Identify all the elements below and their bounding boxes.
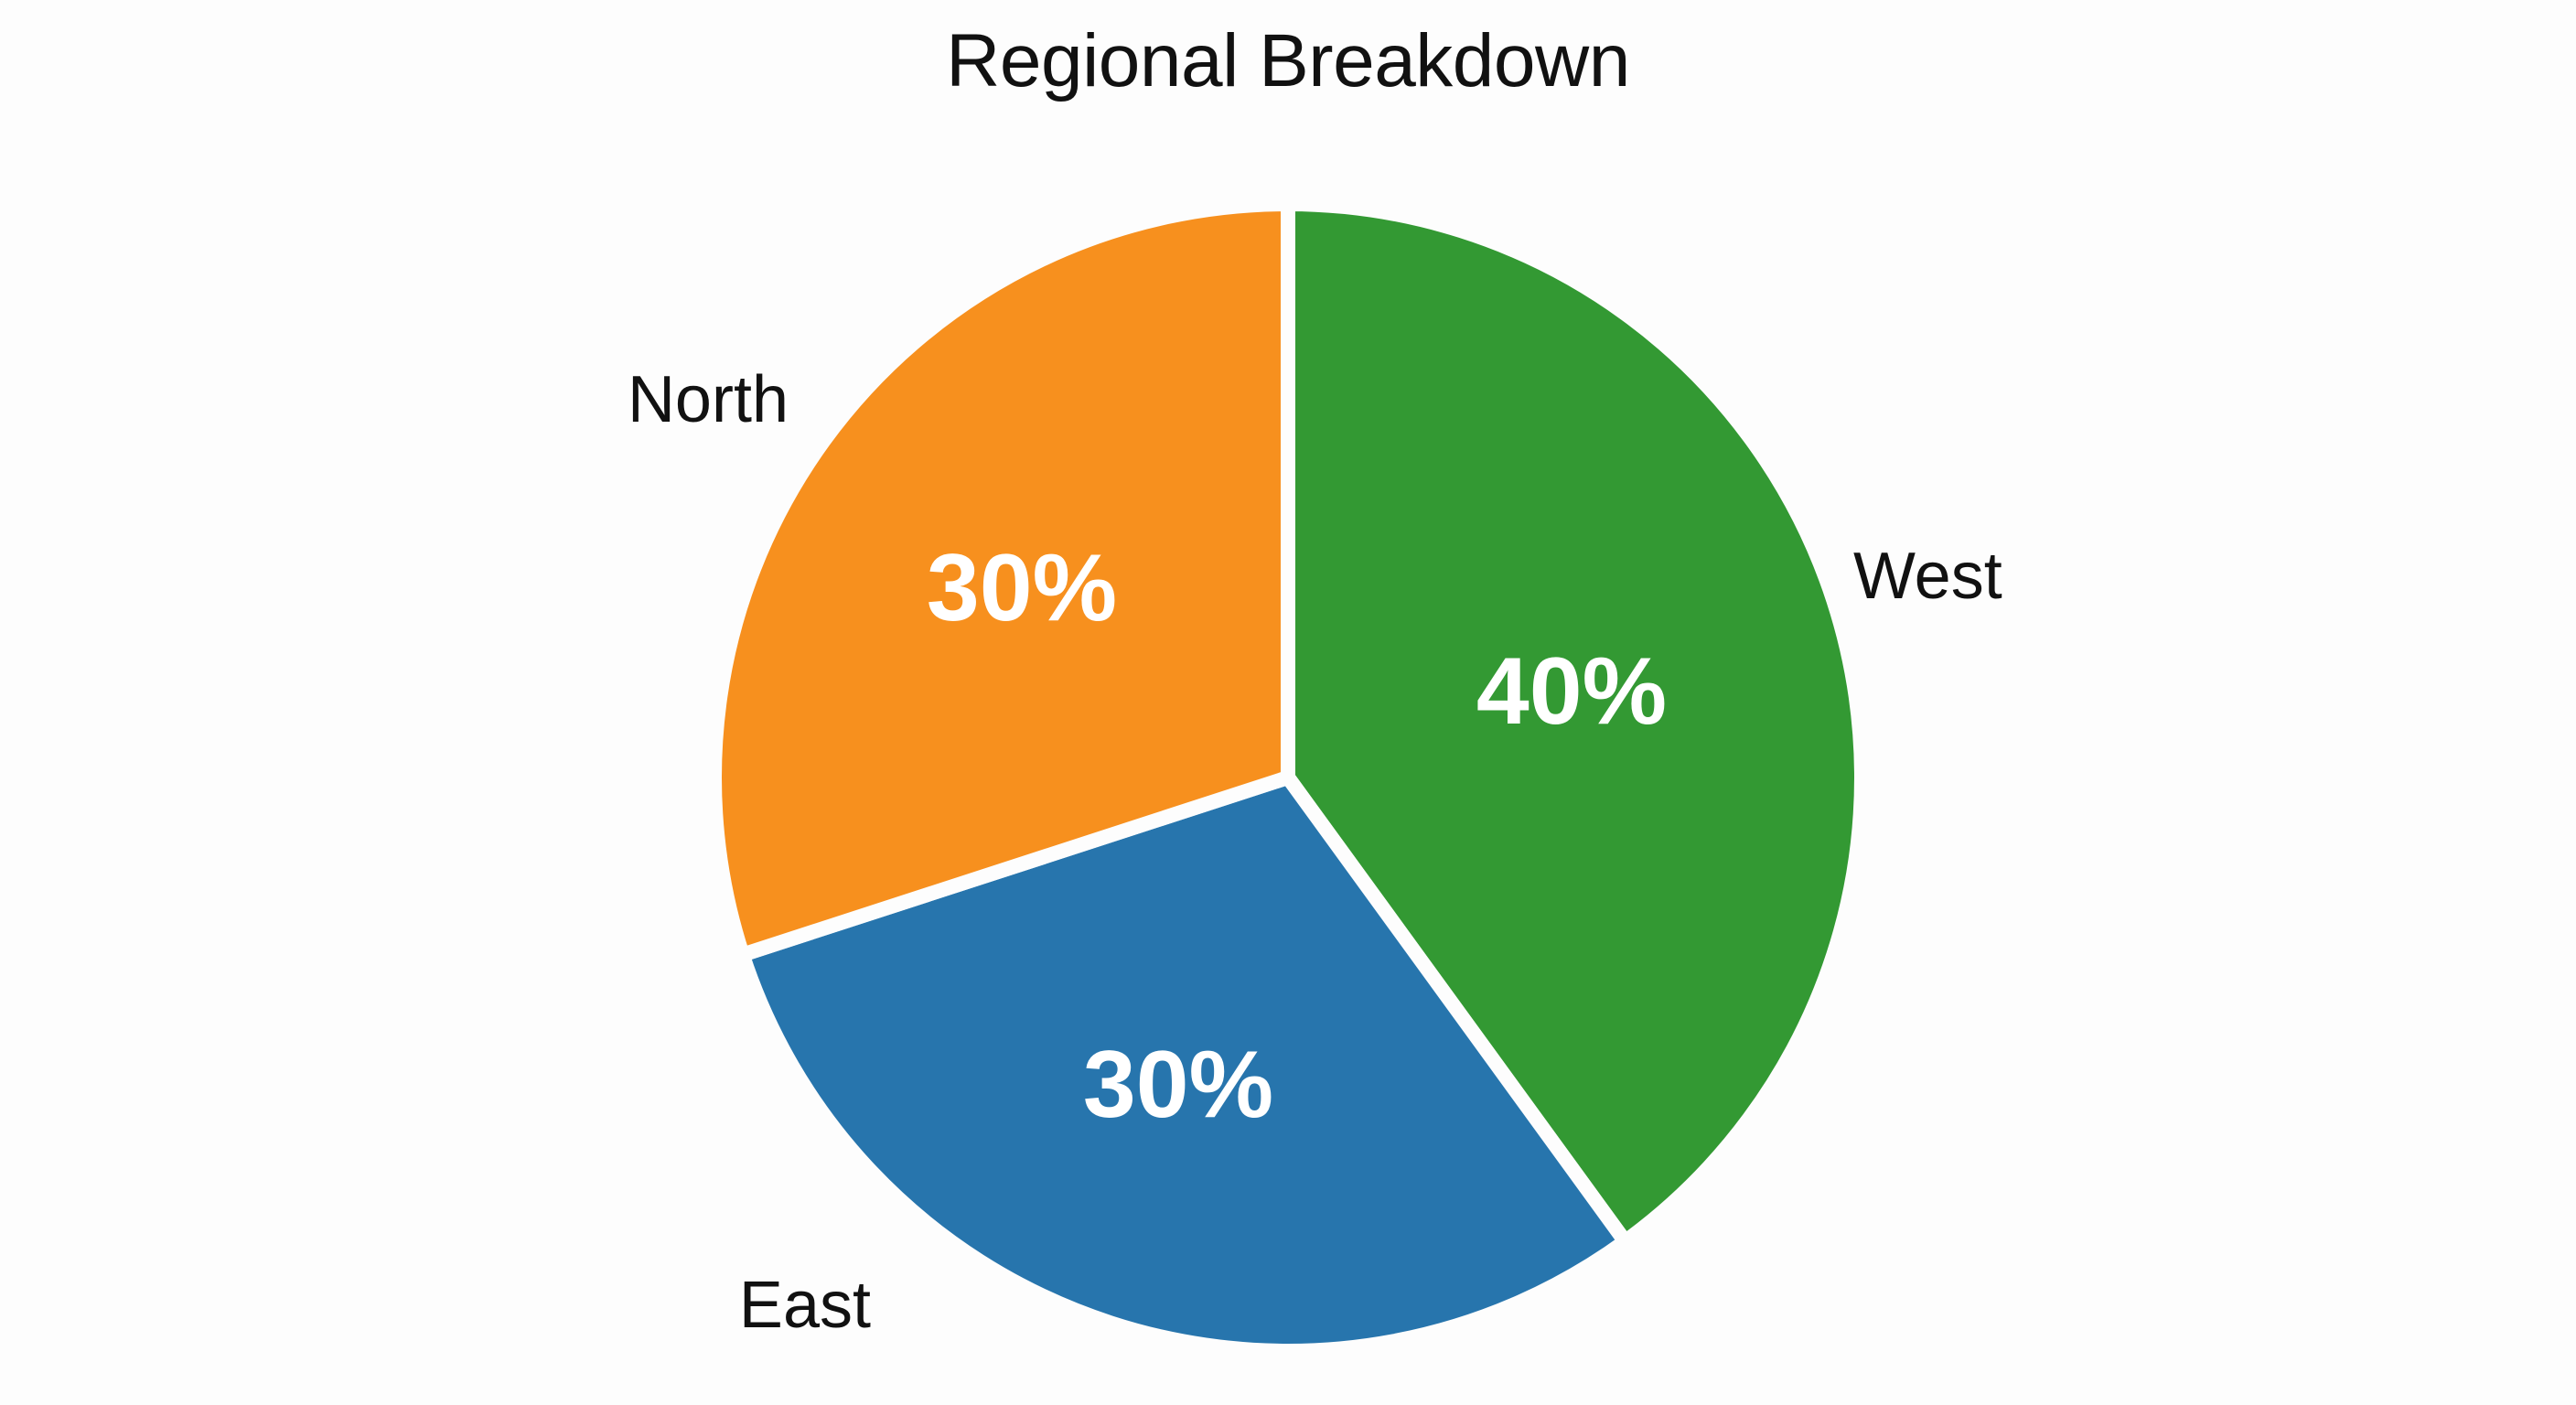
pie-percent-label-north: 30% <box>927 535 1117 641</box>
pie-category-label-north: North <box>628 363 789 436</box>
pie-chart-svg: 40%30%30% WestEastNorth <box>0 0 2576 1405</box>
pie-percent-label-east: 30% <box>1083 1032 1273 1138</box>
pie-category-label-east: East <box>739 1269 871 1342</box>
pie-percent-label-west: 40% <box>1476 638 1667 745</box>
pie-category-label-west: West <box>1853 540 2002 613</box>
pie-chart-figure: Regional Breakdown 40%30%30% WestEastNor… <box>0 0 2576 1405</box>
pie-slices-group <box>714 204 1862 1351</box>
